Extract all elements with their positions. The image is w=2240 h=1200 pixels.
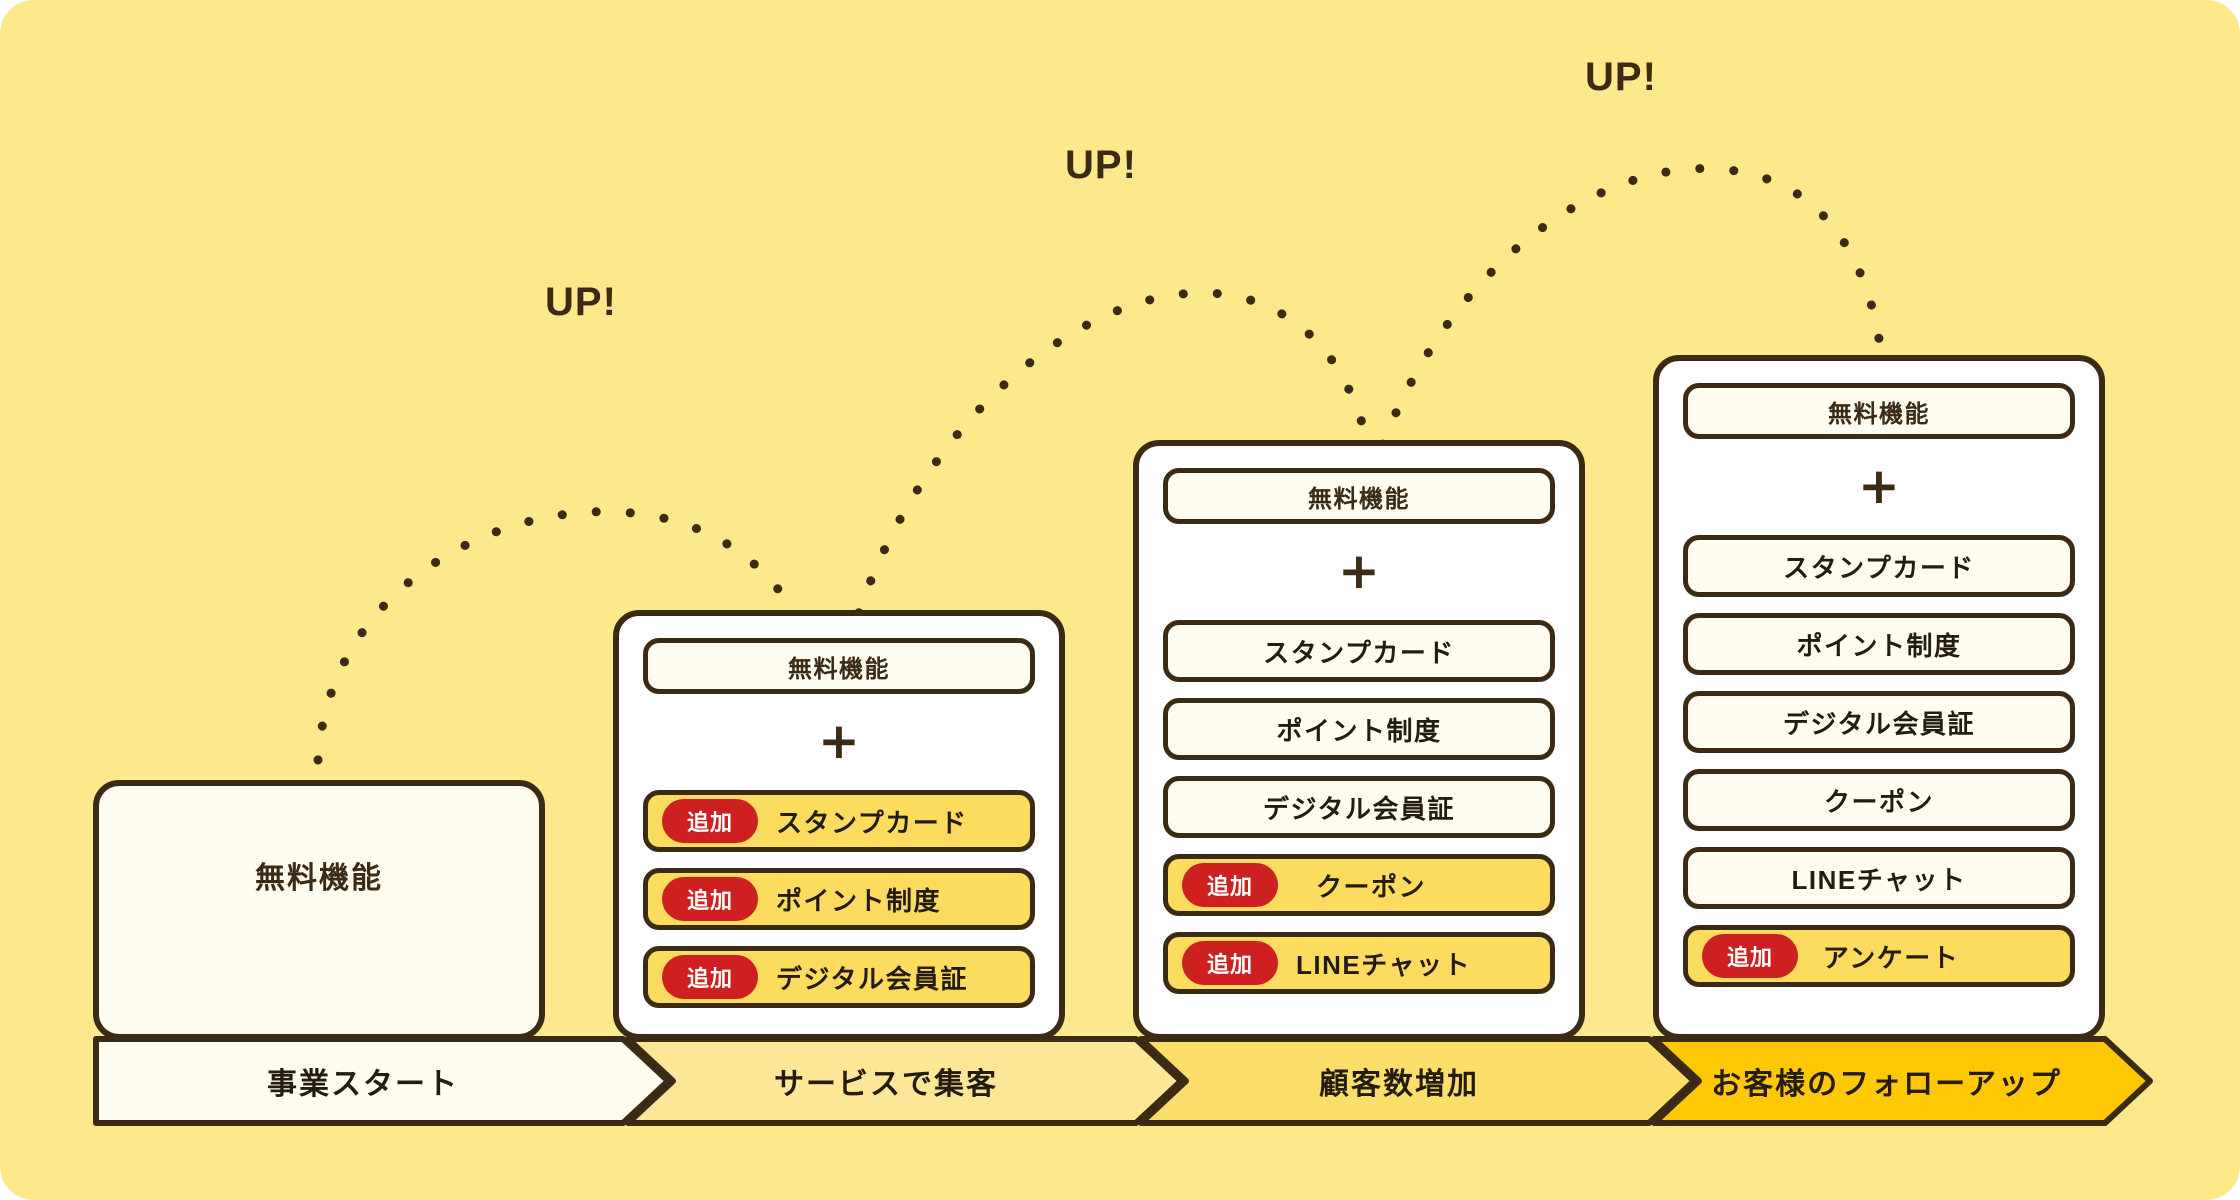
added-badge: 追加	[662, 799, 758, 843]
card-3-feature-2-label: ポイント制度	[1276, 711, 1441, 748]
card-4-feature-4[interactable]: クーポン	[1683, 769, 2075, 831]
added-badge: 追加	[662, 877, 758, 921]
card-2-free-label: 無料機能	[788, 649, 890, 684]
card-3-feature-2[interactable]: ポイント制度	[1163, 698, 1555, 760]
added-badge: 追加	[1702, 934, 1798, 978]
card-4-feature-1-label: スタンプカード	[1783, 548, 1975, 585]
card-3-feature-1[interactable]: スタンプカード	[1163, 620, 1555, 682]
card-2-feature-3[interactable]: 追加 デジタル会員証	[643, 946, 1035, 1008]
stage-segment-3-label: 顧客数増加	[1319, 1059, 1479, 1103]
card-2-feature-2[interactable]: 追加 ポイント制度	[643, 868, 1035, 930]
card-2-feature-1-label: スタンプカード	[776, 803, 1072, 840]
card-3-feature-1-label: スタンプカード	[1263, 633, 1455, 670]
card-4-feature-2-label: ポイント制度	[1796, 626, 1961, 663]
card-4-feature-2[interactable]: ポイント制度	[1683, 613, 2075, 675]
stage-segment-2[interactable]: サービスで集客	[606, 1036, 1186, 1126]
added-badge: 追加	[1182, 941, 1278, 985]
card-2-feature-3-label: デジタル会員証	[776, 959, 1072, 996]
card-3-feature-4-label: クーポン	[1296, 867, 1550, 904]
stage-card-1[interactable]: 無料機能	[93, 780, 545, 1040]
card-4-free-label: 無料機能	[1828, 394, 1930, 429]
up-label-3: UP!	[1585, 55, 1657, 100]
card-4-feature-3-label: デジタル会員証	[1783, 704, 1975, 741]
up-label-1: UP!	[545, 280, 617, 325]
card-4-free-pill: 無料機能	[1683, 383, 2075, 439]
stage-card-3[interactable]: 無料機能 + スタンプカード ポイント制度 デジタル会員証 追加 クーポン 追加…	[1133, 440, 1585, 1040]
stage-segment-3[interactable]: 顧客数増加	[1119, 1036, 1699, 1126]
card-2-free-pill: 無料機能	[643, 638, 1035, 694]
card-4-feature-4-label: クーポン	[1824, 782, 1934, 819]
card-1-center-label: 無料機能	[255, 853, 383, 897]
stage-segment-1[interactable]: 事業スタート	[93, 1036, 673, 1126]
added-badge: 追加	[662, 955, 758, 999]
card-3-plus-icon: +	[1163, 524, 1555, 620]
stage-card-4[interactable]: 無料機能 + スタンプカード ポイント制度 デジタル会員証 クーポン LINEチ…	[1653, 355, 2105, 1040]
card-3-feature-5[interactable]: 追加 LINEチャット	[1163, 932, 1555, 994]
infographic-stage: UP! UP! UP! 無料機能 無料機能 + 追加 スタンプカード 追加 ポイ…	[0, 0, 2240, 1200]
card-3-feature-4[interactable]: 追加 クーポン	[1163, 854, 1555, 916]
card-3-feature-3[interactable]: デジタル会員証	[1163, 776, 1555, 838]
card-4-feature-5[interactable]: LINEチャット	[1683, 847, 2075, 909]
card-3-feature-3-label: デジタル会員証	[1263, 789, 1455, 826]
stage-card-2[interactable]: 無料機能 + 追加 スタンプカード 追加 ポイント制度 追加 デジタル会員証	[613, 610, 1065, 1040]
card-2-plus-icon: +	[643, 694, 1035, 790]
card-3-free-pill: 無料機能	[1163, 468, 1555, 524]
added-badge: 追加	[1182, 863, 1278, 907]
card-4-feature-1[interactable]: スタンプカード	[1683, 535, 2075, 597]
card-3-free-label: 無料機能	[1308, 479, 1410, 514]
card-3-feature-5-label: LINEチャット	[1296, 945, 1575, 982]
card-4-feature-3[interactable]: デジタル会員証	[1683, 691, 2075, 753]
card-4-plus-icon: +	[1683, 439, 2075, 535]
stage-segment-4-label: お客様のフォローアップ	[1711, 1059, 2062, 1103]
stage-segment-1-label: 事業スタート	[267, 1059, 459, 1103]
card-4-feature-5-label: LINEチャット	[1792, 860, 1967, 897]
stage-segment-2-label: サービスで集客	[774, 1059, 998, 1103]
card-4-feature-6-label: アンケート	[1816, 938, 2070, 975]
card-2-feature-1[interactable]: 追加 スタンプカード	[643, 790, 1035, 852]
card-4-feature-6[interactable]: 追加 アンケート	[1683, 925, 2075, 987]
up-label-2: UP!	[1065, 143, 1137, 188]
stage-segment-4[interactable]: お客様のフォローアップ	[1632, 1036, 2155, 1126]
card-2-feature-2-label: ポイント制度	[776, 881, 1045, 918]
stage-progress-bar: 事業スタート サービスで集客 顧客数増加 お客様のフォローアップ	[93, 1036, 2155, 1126]
